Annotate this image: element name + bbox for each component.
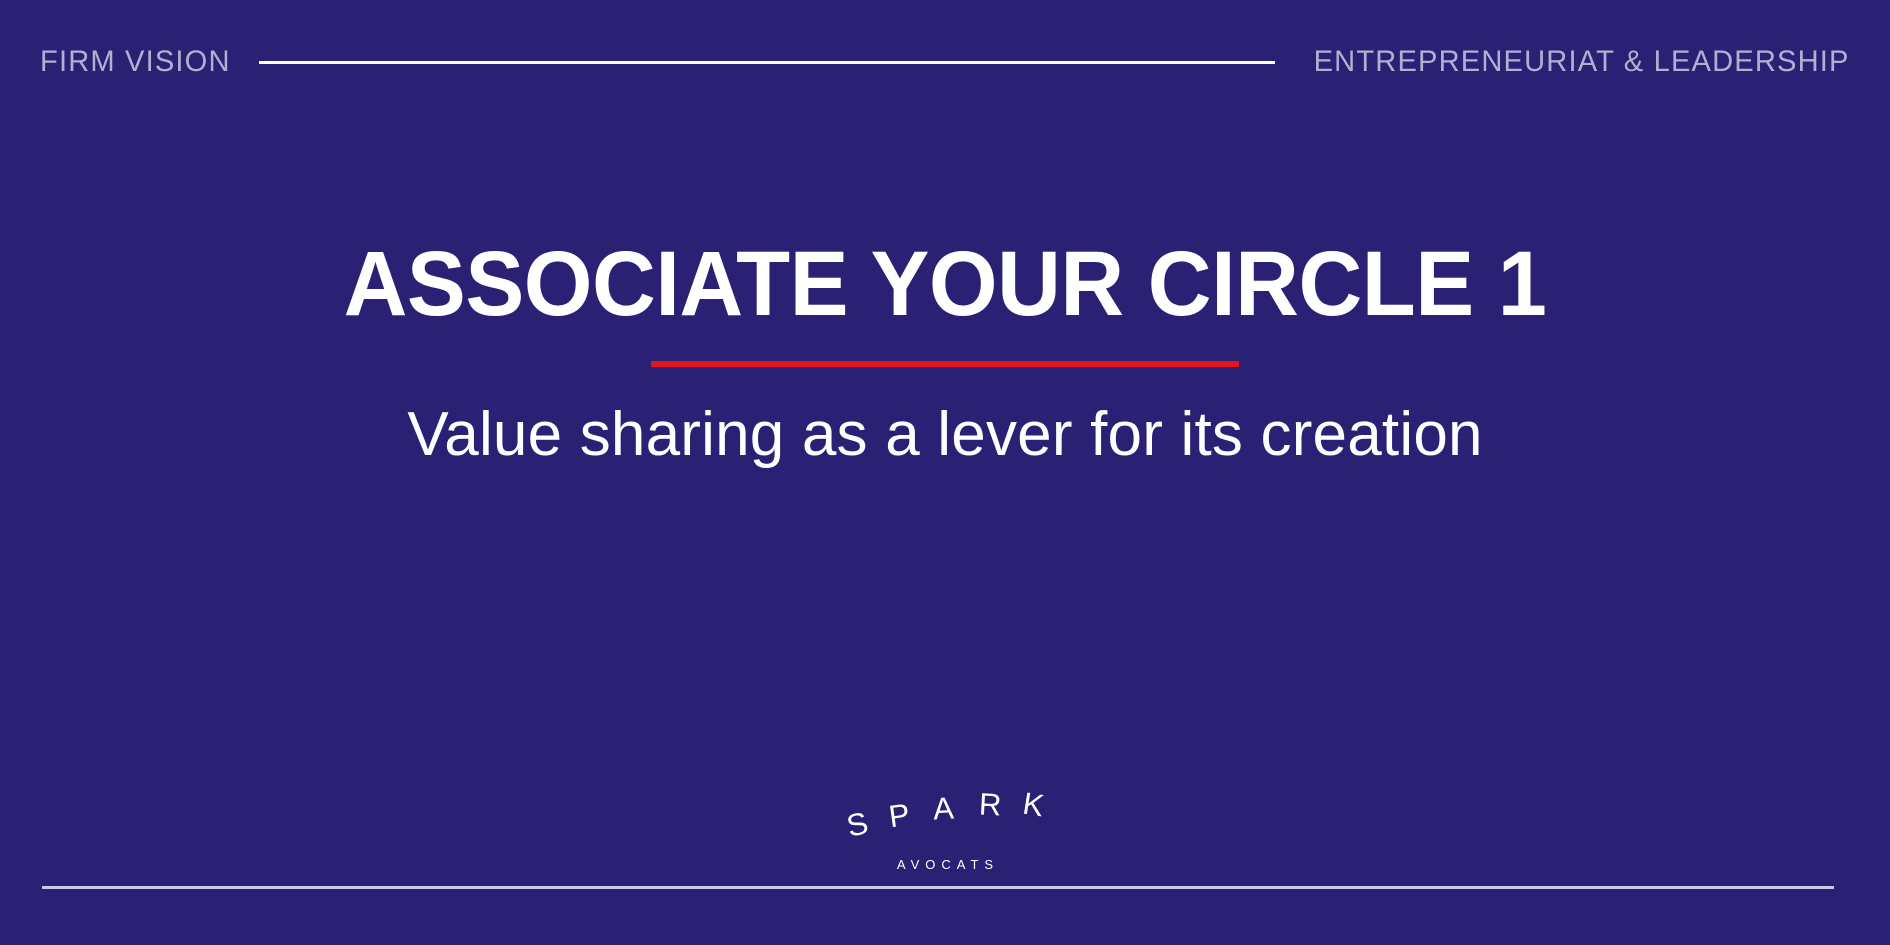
header-divider-rule	[259, 61, 1276, 64]
slide-canvas: FIRM VISION ENTREPRENEURIAT & LEADERSHIP…	[0, 0, 1890, 945]
page-title: ASSOCIATE YOUR CIRCLE 1	[38, 238, 1852, 332]
brand-logo: S P A R K AVOCATS	[0, 782, 1890, 872]
slide-header: FIRM VISION ENTREPRENEURIAT & LEADERSHIP	[40, 32, 1850, 92]
brand-wordmark: S P A R K	[845, 782, 1045, 838]
brand-tagline: AVOCATS	[0, 857, 1890, 872]
page-subtitle: Value sharing as a lever for its creatio…	[365, 398, 1525, 471]
header-left-label: FIRM VISION	[40, 45, 231, 79]
wordmark-letter-r: R	[978, 788, 1002, 820]
wordmark-letter-a: A	[932, 792, 954, 824]
title-accent-underline	[651, 361, 1239, 367]
footer-divider-rule	[42, 886, 1834, 889]
title-accent-underline-wrap	[0, 354, 1890, 372]
wordmark-letter-k: K	[1021, 788, 1046, 822]
header-right-label: ENTREPRENEURIAT & LEADERSHIP	[1314, 45, 1850, 79]
slide-main-content: ASSOCIATE YOUR CIRCLE 1 Value sharing as…	[0, 238, 1890, 471]
wordmark-letter-p: P	[887, 799, 912, 833]
wordmark-letter-s: S	[844, 807, 871, 842]
